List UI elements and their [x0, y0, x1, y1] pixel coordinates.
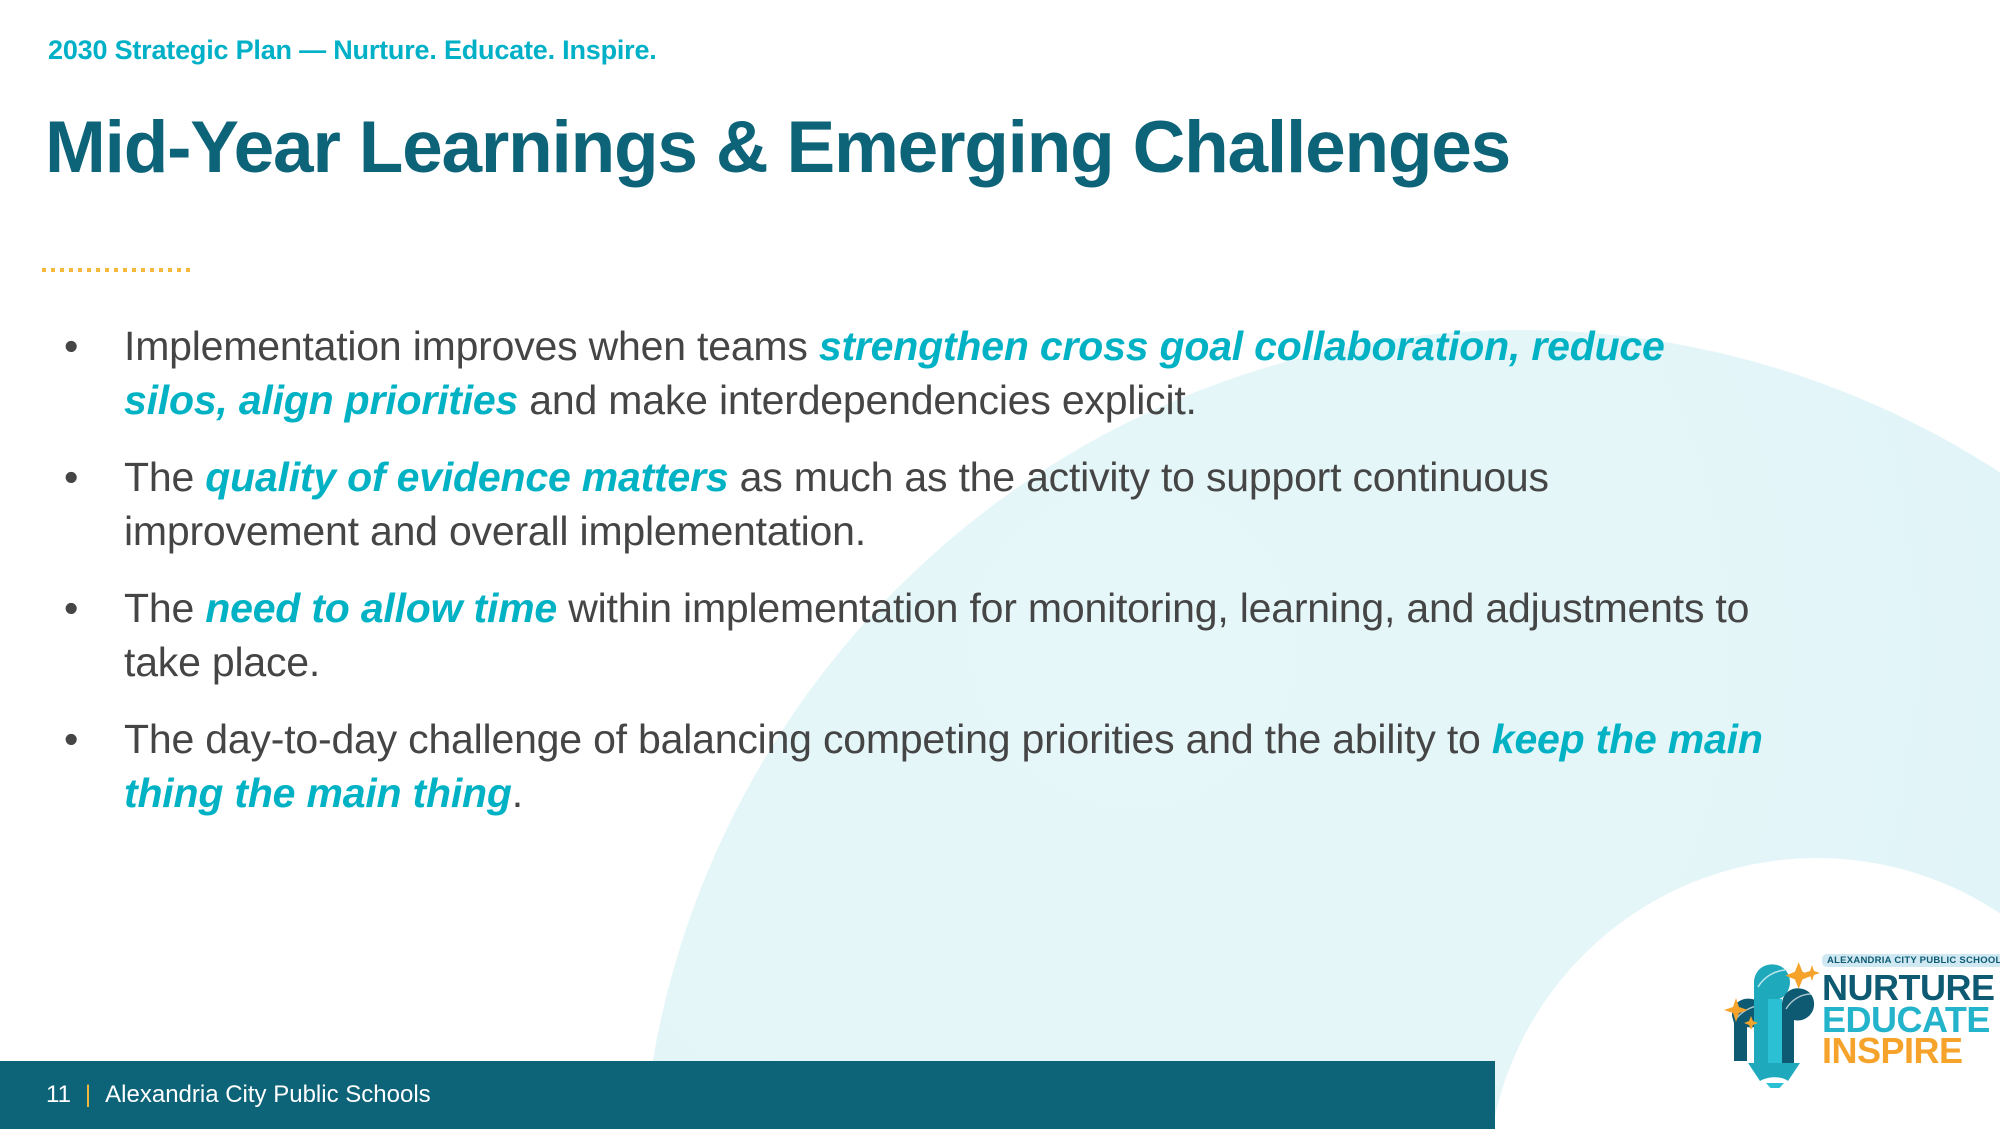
bullet-segment: The day-to-day challenge of balancing co…: [124, 716, 1492, 762]
organization-name: Alexandria City Public Schools: [105, 1081, 431, 1109]
eyebrow-text: 2030 Strategic Plan — Nurture. Educate. …: [48, 35, 657, 66]
dotted-divider: [42, 268, 194, 272]
bullet-marker: •: [64, 451, 78, 505]
bullet-text: The day-to-day challenge of balancing co…: [124, 716, 1763, 816]
list-item: • Implementation improves when teams str…: [48, 320, 1768, 427]
bullet-text: The need to allow time within implementa…: [124, 585, 1749, 685]
bullet-emphasis: need to allow time: [205, 585, 557, 631]
page-title: Mid-Year Learnings & Emerging Challenges: [45, 106, 1510, 189]
bullet-emphasis: quality of evidence matters: [205, 454, 728, 500]
bullet-segment: The: [124, 454, 205, 500]
bullet-marker: •: [64, 713, 78, 767]
bullet-segment: Implementation improves when teams: [124, 323, 819, 369]
footer-content: 11 | Alexandria City Public Schools: [46, 1061, 431, 1129]
logo-tagline: ALEXANDRIA CITY PUBLIC SCHOOLS: [1822, 954, 2000, 967]
logo-wordmark: ALEXANDRIA CITY PUBLIC SCHOOLS NURTURE E…: [1822, 950, 1992, 1095]
list-item: • The day-to-day challenge of balancing …: [48, 713, 1768, 820]
bullet-marker: •: [64, 582, 78, 636]
pencil-leaves-sparkles-mark: [1722, 953, 1826, 1088]
footer-separator: |: [85, 1081, 91, 1109]
bullet-marker: •: [64, 320, 78, 374]
bullet-segment: The: [124, 585, 205, 631]
bullet-segment: .: [512, 770, 523, 816]
acps-logo: ALEXANDRIA CITY PUBLIC SCHOOLS NURTURE E…: [1722, 950, 1990, 1095]
list-item: • The quality of evidence matters as muc…: [48, 451, 1768, 558]
bullet-text: Implementation improves when teams stren…: [124, 323, 1665, 423]
page-number: 11: [46, 1081, 71, 1109]
bullet-text: The quality of evidence matters as much …: [124, 454, 1549, 554]
logo-word-inspire: INSPIRE: [1822, 1035, 1992, 1067]
footer-bar: 11 | Alexandria City Public Schools: [0, 1061, 1495, 1129]
bullet-segment: and make interdependencies explicit.: [518, 377, 1197, 423]
list-item: • The need to allow time within implemen…: [48, 582, 1768, 689]
slide-canvas: 2030 Strategic Plan — Nurture. Educate. …: [0, 0, 2000, 1129]
bullet-list: • Implementation improves when teams str…: [48, 320, 1768, 820]
